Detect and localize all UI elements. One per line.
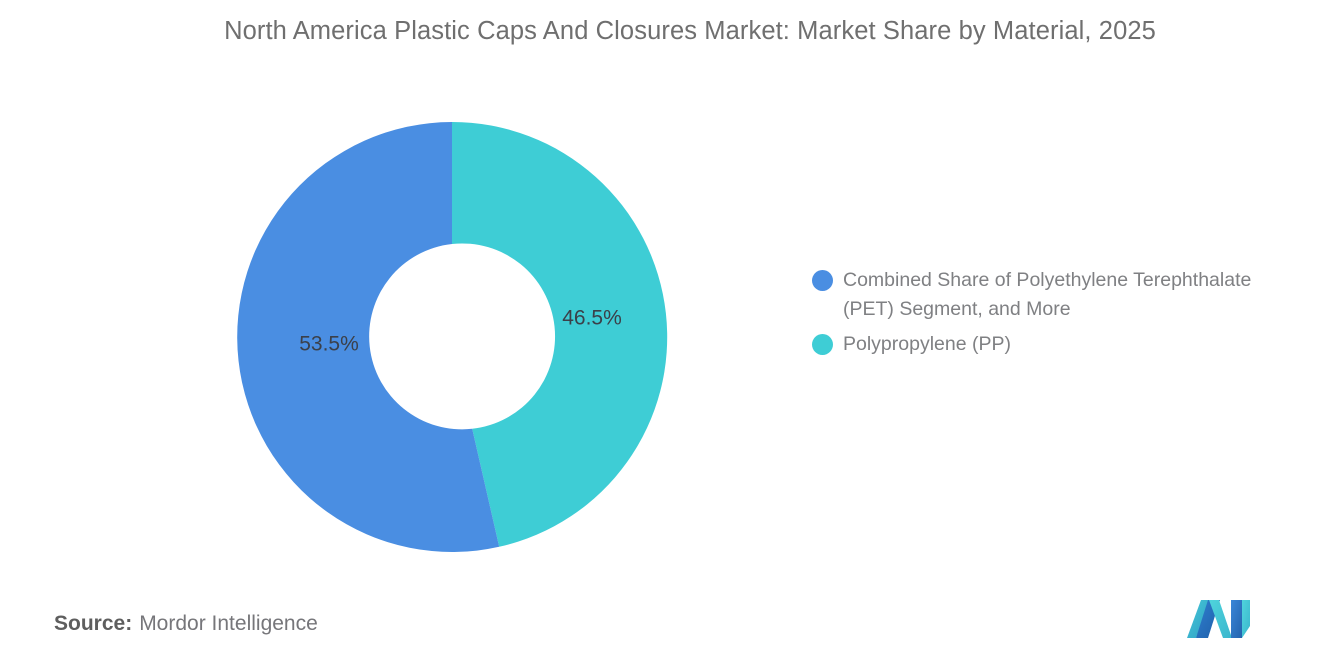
source-attribution: Source:Mordor Intelligence — [54, 612, 318, 636]
logo-svg — [1186, 598, 1252, 640]
slice-label-pet-combined: 53.5% — [299, 333, 359, 356]
donut-chart: 53.5% 46.5% — [237, 118, 669, 558]
source-value: Mordor Intelligence — [139, 612, 318, 635]
legend-label-polypropylene: Polypropylene (PP) — [843, 330, 1011, 359]
donut-chart-svg: 53.5% 46.5% — [237, 118, 669, 558]
legend-label-pet-combined: Combined Share of Polyethylene Terephtha… — [843, 266, 1253, 324]
source-label: Source: — [54, 612, 132, 635]
legend-swatch-icon-polypropylene — [812, 334, 833, 355]
page-title: North America Plastic Caps And Closures … — [160, 12, 1220, 51]
chart-legend: Combined Share of Polyethylene Terephtha… — [812, 266, 1282, 365]
legend-item-polypropylene[interactable]: Polypropylene (PP) — [812, 330, 1282, 359]
legend-swatch-icon-pet-combined — [812, 270, 833, 291]
slice-label-polypropylene: 46.5% — [562, 307, 622, 330]
legend-item-pet-combined[interactable]: Combined Share of Polyethylene Terephtha… — [812, 266, 1282, 324]
mordor-intelligence-logo-icon — [1186, 598, 1252, 640]
